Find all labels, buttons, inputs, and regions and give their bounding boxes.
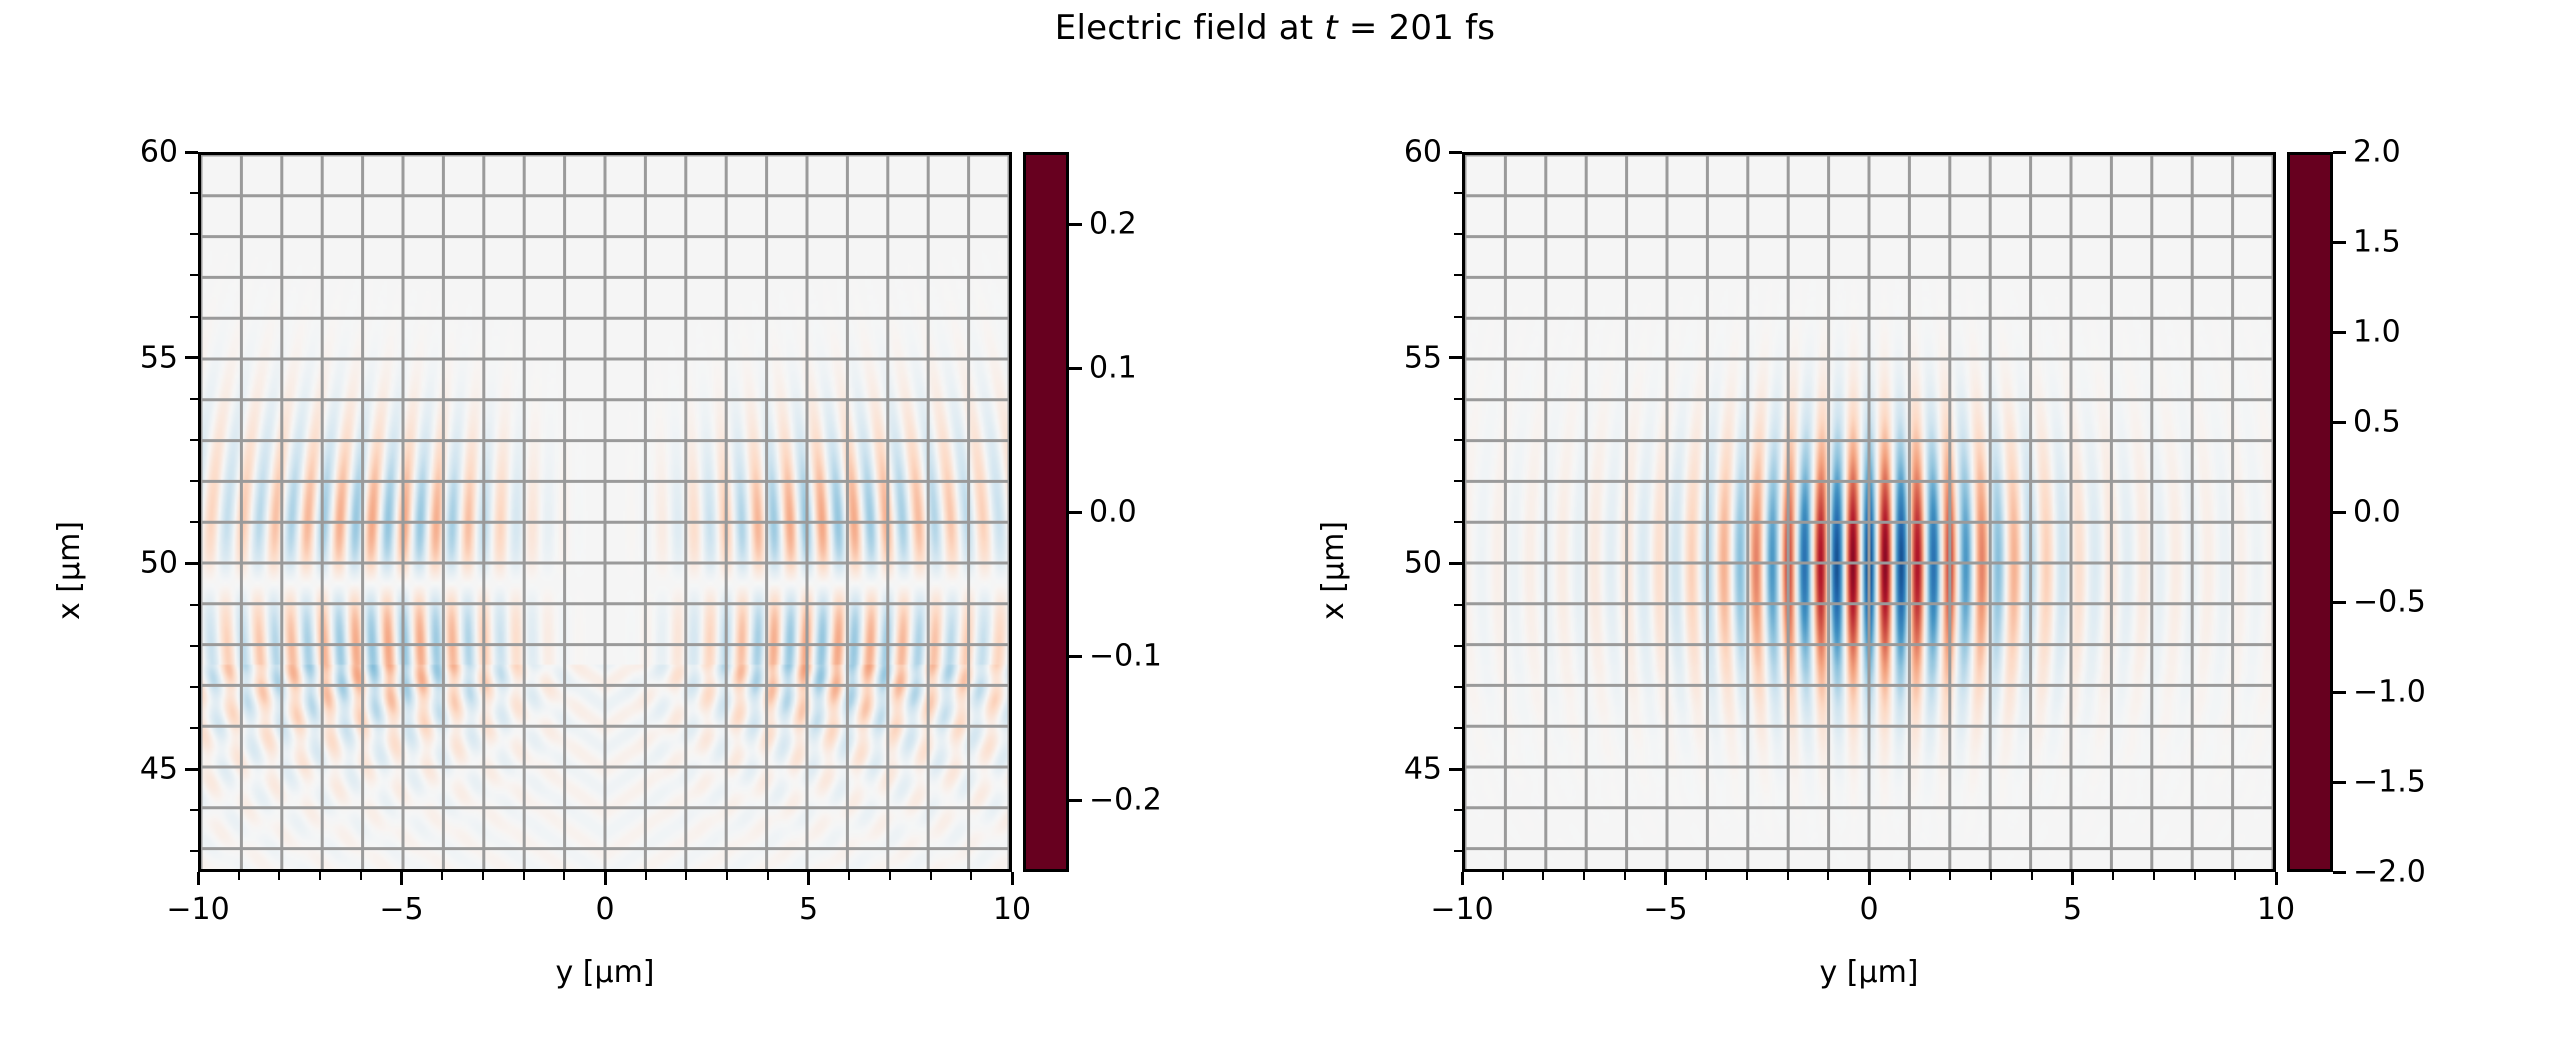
colorbar-tick-label: −1.0 [2353, 675, 2426, 710]
y-tick-minor [1454, 316, 1462, 318]
y-tick-minor [190, 645, 198, 647]
colorbar-tick [2333, 331, 2346, 334]
colorbar-tick [1069, 655, 1082, 658]
x-tick-minor [441, 872, 443, 880]
colorbar-tick-label: 0.0 [2353, 495, 2401, 530]
x-tick-minor [2031, 872, 2033, 880]
colorbar-tick [2333, 511, 2346, 514]
y-tick-minor [1454, 521, 1462, 523]
colorbar-tick [2333, 421, 2346, 424]
x-tick-major [1868, 872, 1871, 885]
x-tick-minor [1746, 872, 1748, 880]
x-tick-minor [482, 872, 484, 880]
y-tick-minor [1454, 686, 1462, 688]
colorbar-tick-label: −0.5 [2353, 585, 2426, 620]
colorbar-tick-label: −1.5 [2353, 765, 2426, 800]
x-tick-major [197, 872, 200, 885]
x-tick-label: 10 [993, 892, 1031, 927]
colorbar-tick [2333, 151, 2346, 154]
y-tick-minor [190, 192, 198, 194]
x-tick-minor [319, 872, 321, 880]
x-tick-minor [2194, 872, 2196, 880]
x-tick-minor [523, 872, 525, 880]
y-tick-major [185, 768, 198, 771]
colorbar-ex[interactable] [1023, 152, 1069, 872]
x-tick-minor [2153, 872, 2155, 880]
x-axis-label-right: y [μm] [1819, 955, 1918, 990]
y-tick-minor [190, 521, 198, 523]
y-tick-label: 55 [1312, 340, 1442, 375]
y-tick-minor [190, 316, 198, 318]
colorbar-tick-label: −0.1 [1089, 639, 1162, 674]
colorbar-tick [2333, 871, 2346, 874]
figure-title-prefix: Electric field at [1055, 8, 1325, 48]
heatmap-ey[interactable] [1462, 152, 2276, 872]
x-tick-major [2071, 872, 2074, 885]
x-tick-minor [278, 872, 280, 880]
panel-ey: 45505560−10−50510 x [μm] y [μm] −2.0−1.5… [0, 0, 420, 35]
y-tick-minor [190, 850, 198, 852]
colorbar-tick [1069, 367, 1082, 370]
x-tick-label: 0 [595, 892, 614, 927]
x-tick-minor [563, 872, 565, 880]
x-tick-minor [1705, 872, 1707, 880]
y-tick-minor [1454, 274, 1462, 276]
colorbar-tick [1069, 799, 1082, 802]
x-tick-minor [889, 872, 891, 880]
colorbar-tick [1069, 223, 1082, 226]
y-tick-minor [1454, 604, 1462, 606]
y-axis-label-right: x [μm] [1316, 521, 1351, 620]
figure-canvas: Electric field at t = 201 fs 45505560−10… [0, 0, 2550, 1050]
colorbar-tick [1069, 511, 1082, 514]
x-tick-minor [645, 872, 647, 880]
x-tick-major [2275, 872, 2278, 885]
y-tick-label: 45 [48, 752, 178, 787]
grid-overlay [201, 155, 1009, 869]
x-tick-major [400, 872, 403, 885]
y-tick-minor [190, 809, 198, 811]
y-tick-label: 45 [1312, 752, 1442, 787]
colorbar-tick [2333, 781, 2346, 784]
y-tick-minor [190, 439, 198, 441]
x-tick-major [1461, 872, 1464, 885]
x-tick-minor [1909, 872, 1911, 880]
colorbar-tick-label: 0.0 [1089, 495, 1137, 530]
x-tick-minor [1990, 872, 1992, 880]
y-tick-minor [190, 604, 198, 606]
y-tick-major [185, 151, 198, 154]
y-tick-minor [190, 233, 198, 235]
x-tick-minor [970, 872, 972, 880]
x-tick-minor [1949, 872, 1951, 880]
colorbar-tick [2333, 601, 2346, 604]
x-tick-label: −5 [1643, 892, 1687, 927]
x-tick-minor [1583, 872, 1585, 880]
y-axis-label-left: x [μm] [52, 521, 87, 620]
grid-overlay [1465, 155, 2273, 869]
x-tick-minor [360, 872, 362, 880]
x-tick-minor [767, 872, 769, 880]
figure-title-value: 201 fs [1389, 8, 1496, 48]
y-tick-minor [1454, 809, 1462, 811]
heatmap-ex[interactable] [198, 152, 1012, 872]
y-tick-major [1449, 356, 1462, 359]
y-tick-minor [1454, 398, 1462, 400]
x-tick-minor [848, 872, 850, 880]
colorbar-tick-label: 0.2 [1089, 207, 1137, 242]
colorbar-ey[interactable] [2287, 152, 2333, 872]
x-tick-label: −10 [166, 892, 229, 927]
x-tick-minor [1787, 872, 1789, 880]
y-tick-major [185, 356, 198, 359]
y-tick-minor [1454, 480, 1462, 482]
y-tick-minor [1454, 850, 1462, 852]
y-tick-label: 55 [48, 340, 178, 375]
colorbar-tick-label: 1.0 [2353, 315, 2401, 350]
x-tick-label: 5 [2063, 892, 2082, 927]
x-tick-label: −5 [379, 892, 423, 927]
y-tick-major [1449, 151, 1462, 154]
x-tick-minor [238, 872, 240, 880]
y-tick-minor [1454, 645, 1462, 647]
x-tick-minor [930, 872, 932, 880]
y-tick-minor [1454, 192, 1462, 194]
y-tick-label: 60 [48, 135, 178, 170]
x-tick-major [1011, 872, 1014, 885]
colorbar-tick-label: −0.2 [1089, 783, 1162, 818]
y-tick-minor [1454, 439, 1462, 441]
colorbar-tick [2333, 241, 2346, 244]
colorbar-tick [2333, 691, 2346, 694]
x-tick-minor [2234, 872, 2236, 880]
x-axis-label-left: y [μm] [555, 955, 654, 990]
x-tick-minor [1827, 872, 1829, 880]
y-tick-minor [190, 686, 198, 688]
colorbar-tick-label: −2.0 [2353, 855, 2426, 890]
figure-title-variable: t [1324, 8, 1338, 48]
colorbar-tick-label: 0.1 [1089, 351, 1137, 386]
y-tick-minor [190, 398, 198, 400]
y-tick-minor [190, 480, 198, 482]
y-tick-major [185, 562, 198, 565]
y-tick-minor [1454, 233, 1462, 235]
y-tick-major [1449, 562, 1462, 565]
colorbar-gradient-ey [2290, 155, 2330, 869]
x-tick-minor [1624, 872, 1626, 880]
colorbar-tick-label: 1.5 [2353, 225, 2401, 260]
x-tick-minor [2112, 872, 2114, 880]
y-tick-minor [1454, 727, 1462, 729]
x-tick-minor [685, 872, 687, 880]
x-tick-label: 0 [1859, 892, 1878, 927]
x-tick-minor [1502, 872, 1504, 880]
colorbar-gradient-ex [1026, 155, 1066, 869]
x-tick-minor [726, 872, 728, 880]
x-tick-minor [1542, 872, 1544, 880]
y-tick-major [1449, 768, 1462, 771]
colorbar-tick-label: 0.5 [2353, 405, 2401, 440]
colorbar-tick-label: 2.0 [2353, 135, 2401, 170]
x-tick-major [604, 872, 607, 885]
x-tick-label: −10 [1430, 892, 1493, 927]
x-tick-label: 5 [799, 892, 818, 927]
x-tick-major [1664, 872, 1667, 885]
y-tick-minor [190, 727, 198, 729]
figure-title-equals: = [1338, 8, 1389, 48]
x-tick-major [807, 872, 810, 885]
x-tick-label: 10 [2257, 892, 2295, 927]
y-tick-minor [190, 274, 198, 276]
y-tick-label: 60 [1312, 135, 1442, 170]
